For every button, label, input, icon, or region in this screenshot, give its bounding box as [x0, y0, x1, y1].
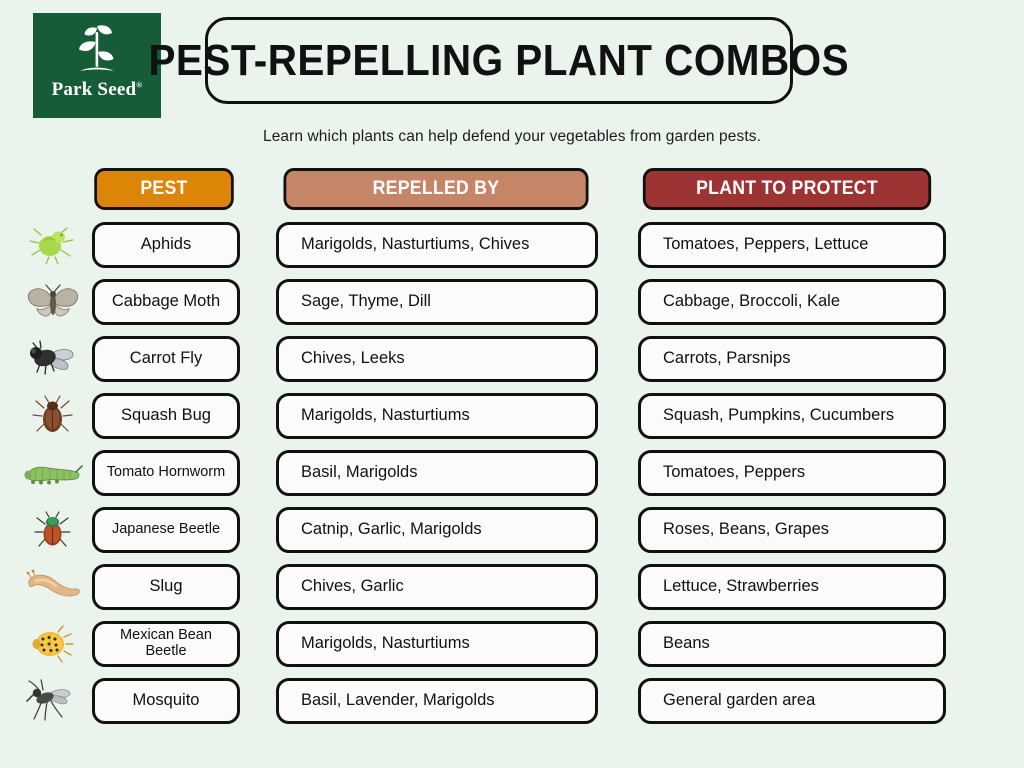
- page-title: PEST-REPELLING PLANT COMBOS: [205, 17, 793, 104]
- seedling-icon: [66, 22, 128, 78]
- repelled-by-cell: Chives, Leeks: [276, 336, 598, 382]
- pest-name-cell: Aphids: [92, 222, 240, 268]
- slug-icon: [20, 562, 86, 612]
- tomato-hornworm-icon: [20, 448, 86, 498]
- pest-name-cell: Slug: [92, 564, 240, 610]
- squash-bug-icon: [20, 391, 86, 441]
- mosquito-icon: [20, 676, 86, 726]
- repelled-by-cell: Marigolds, Nasturtiums: [276, 393, 598, 439]
- repelled-by-cell: Marigolds, Nasturtiums: [276, 621, 598, 667]
- table-column-headers: PEST REPELLED BY PLANT TO PROTECT: [0, 168, 1024, 216]
- table-rows: Aphids Marigolds, Nasturtiums, Chives To…: [0, 220, 1024, 733]
- plant-to-protect-cell: Lettuce, Strawberries: [638, 564, 946, 610]
- page-subtitle: Learn which plants can help defend your …: [0, 128, 1024, 146]
- repelled-by-cell: Basil, Lavender, Marigolds: [276, 678, 598, 724]
- logo-wordmark: Park Seed®: [52, 79, 143, 101]
- pest-name-cell: Mexican Bean Beetle: [92, 621, 240, 667]
- logo-wordmark-text: Park Seed: [52, 79, 137, 100]
- repelled-by-cell: Marigolds, Nasturtiums, Chives: [276, 222, 598, 268]
- plant-to-protect-cell: Squash, Pumpkins, Cucumbers: [638, 393, 946, 439]
- pest-name-cell: Squash Bug: [92, 393, 240, 439]
- table-row: Carrot Fly Chives, Leeks Carrots, Parsni…: [0, 334, 1024, 391]
- pest-name-cell: Mosquito: [92, 678, 240, 724]
- park-seed-logo: Park Seed®: [33, 13, 161, 118]
- page-title-text: PEST-REPELLING PLANT COMBOS: [149, 39, 850, 83]
- pest-name-cell: Tomato Hornworm: [92, 450, 240, 496]
- repelled-by-cell: Sage, Thyme, Dill: [276, 279, 598, 325]
- plant-to-protect-cell: Tomatoes, Peppers: [638, 450, 946, 496]
- logo-trademark: ®: [136, 81, 142, 90]
- aphid-icon: [20, 220, 86, 270]
- pest-table: PEST REPELLED BY PLANT TO PROTECT: [0, 168, 1024, 733]
- table-row: Cabbage Moth Sage, Thyme, Dill Cabbage, …: [0, 277, 1024, 334]
- plant-to-protect-cell: Cabbage, Broccoli, Kale: [638, 279, 946, 325]
- plant-to-protect-cell: Carrots, Parsnips: [638, 336, 946, 382]
- repelled-by-cell: Catnip, Garlic, Marigolds: [276, 507, 598, 553]
- plant-to-protect-cell: Roses, Beans, Grapes: [638, 507, 946, 553]
- column-header-pest: PEST: [94, 168, 234, 210]
- plant-to-protect-cell: Beans: [638, 621, 946, 667]
- cabbage-moth-icon: [20, 277, 86, 327]
- column-header-repelled-by: REPELLED BY: [283, 168, 588, 210]
- repelled-by-cell: Chives, Garlic: [276, 564, 598, 610]
- carrot-fly-icon: [20, 334, 86, 384]
- mexican-bean-beetle-icon: [20, 619, 86, 669]
- table-row: Mexican Bean Beetle Marigolds, Nasturtiu…: [0, 619, 1024, 676]
- plant-to-protect-cell: General garden area: [638, 678, 946, 724]
- plant-to-protect-cell: Tomatoes, Peppers, Lettuce: [638, 222, 946, 268]
- pest-name-cell: Japanese Beetle: [92, 507, 240, 553]
- table-row: Japanese Beetle Catnip, Garlic, Marigold…: [0, 505, 1024, 562]
- table-row: Slug Chives, Garlic Lettuce, Strawberrie…: [0, 562, 1024, 619]
- column-header-plant-to-protect: PLANT TO PROTECT: [643, 168, 931, 210]
- pest-name-cell: Carrot Fly: [92, 336, 240, 382]
- repelled-by-cell: Basil, Marigolds: [276, 450, 598, 496]
- page-header: Park Seed® PEST-REPELLING PLANT COMBOS L…: [0, 0, 1024, 160]
- table-row: Aphids Marigolds, Nasturtiums, Chives To…: [0, 220, 1024, 277]
- table-row: Tomato Hornworm Basil, Marigolds Tomatoe…: [0, 448, 1024, 505]
- infographic-page: Park Seed® PEST-REPELLING PLANT COMBOS L…: [0, 0, 1024, 768]
- table-row: Mosquito Basil, Lavender, Marigolds Gene…: [0, 676, 1024, 733]
- table-row: Squash Bug Marigolds, Nasturtiums Squash…: [0, 391, 1024, 448]
- japanese-beetle-icon: [20, 505, 86, 555]
- pest-name-cell: Cabbage Moth: [92, 279, 240, 325]
